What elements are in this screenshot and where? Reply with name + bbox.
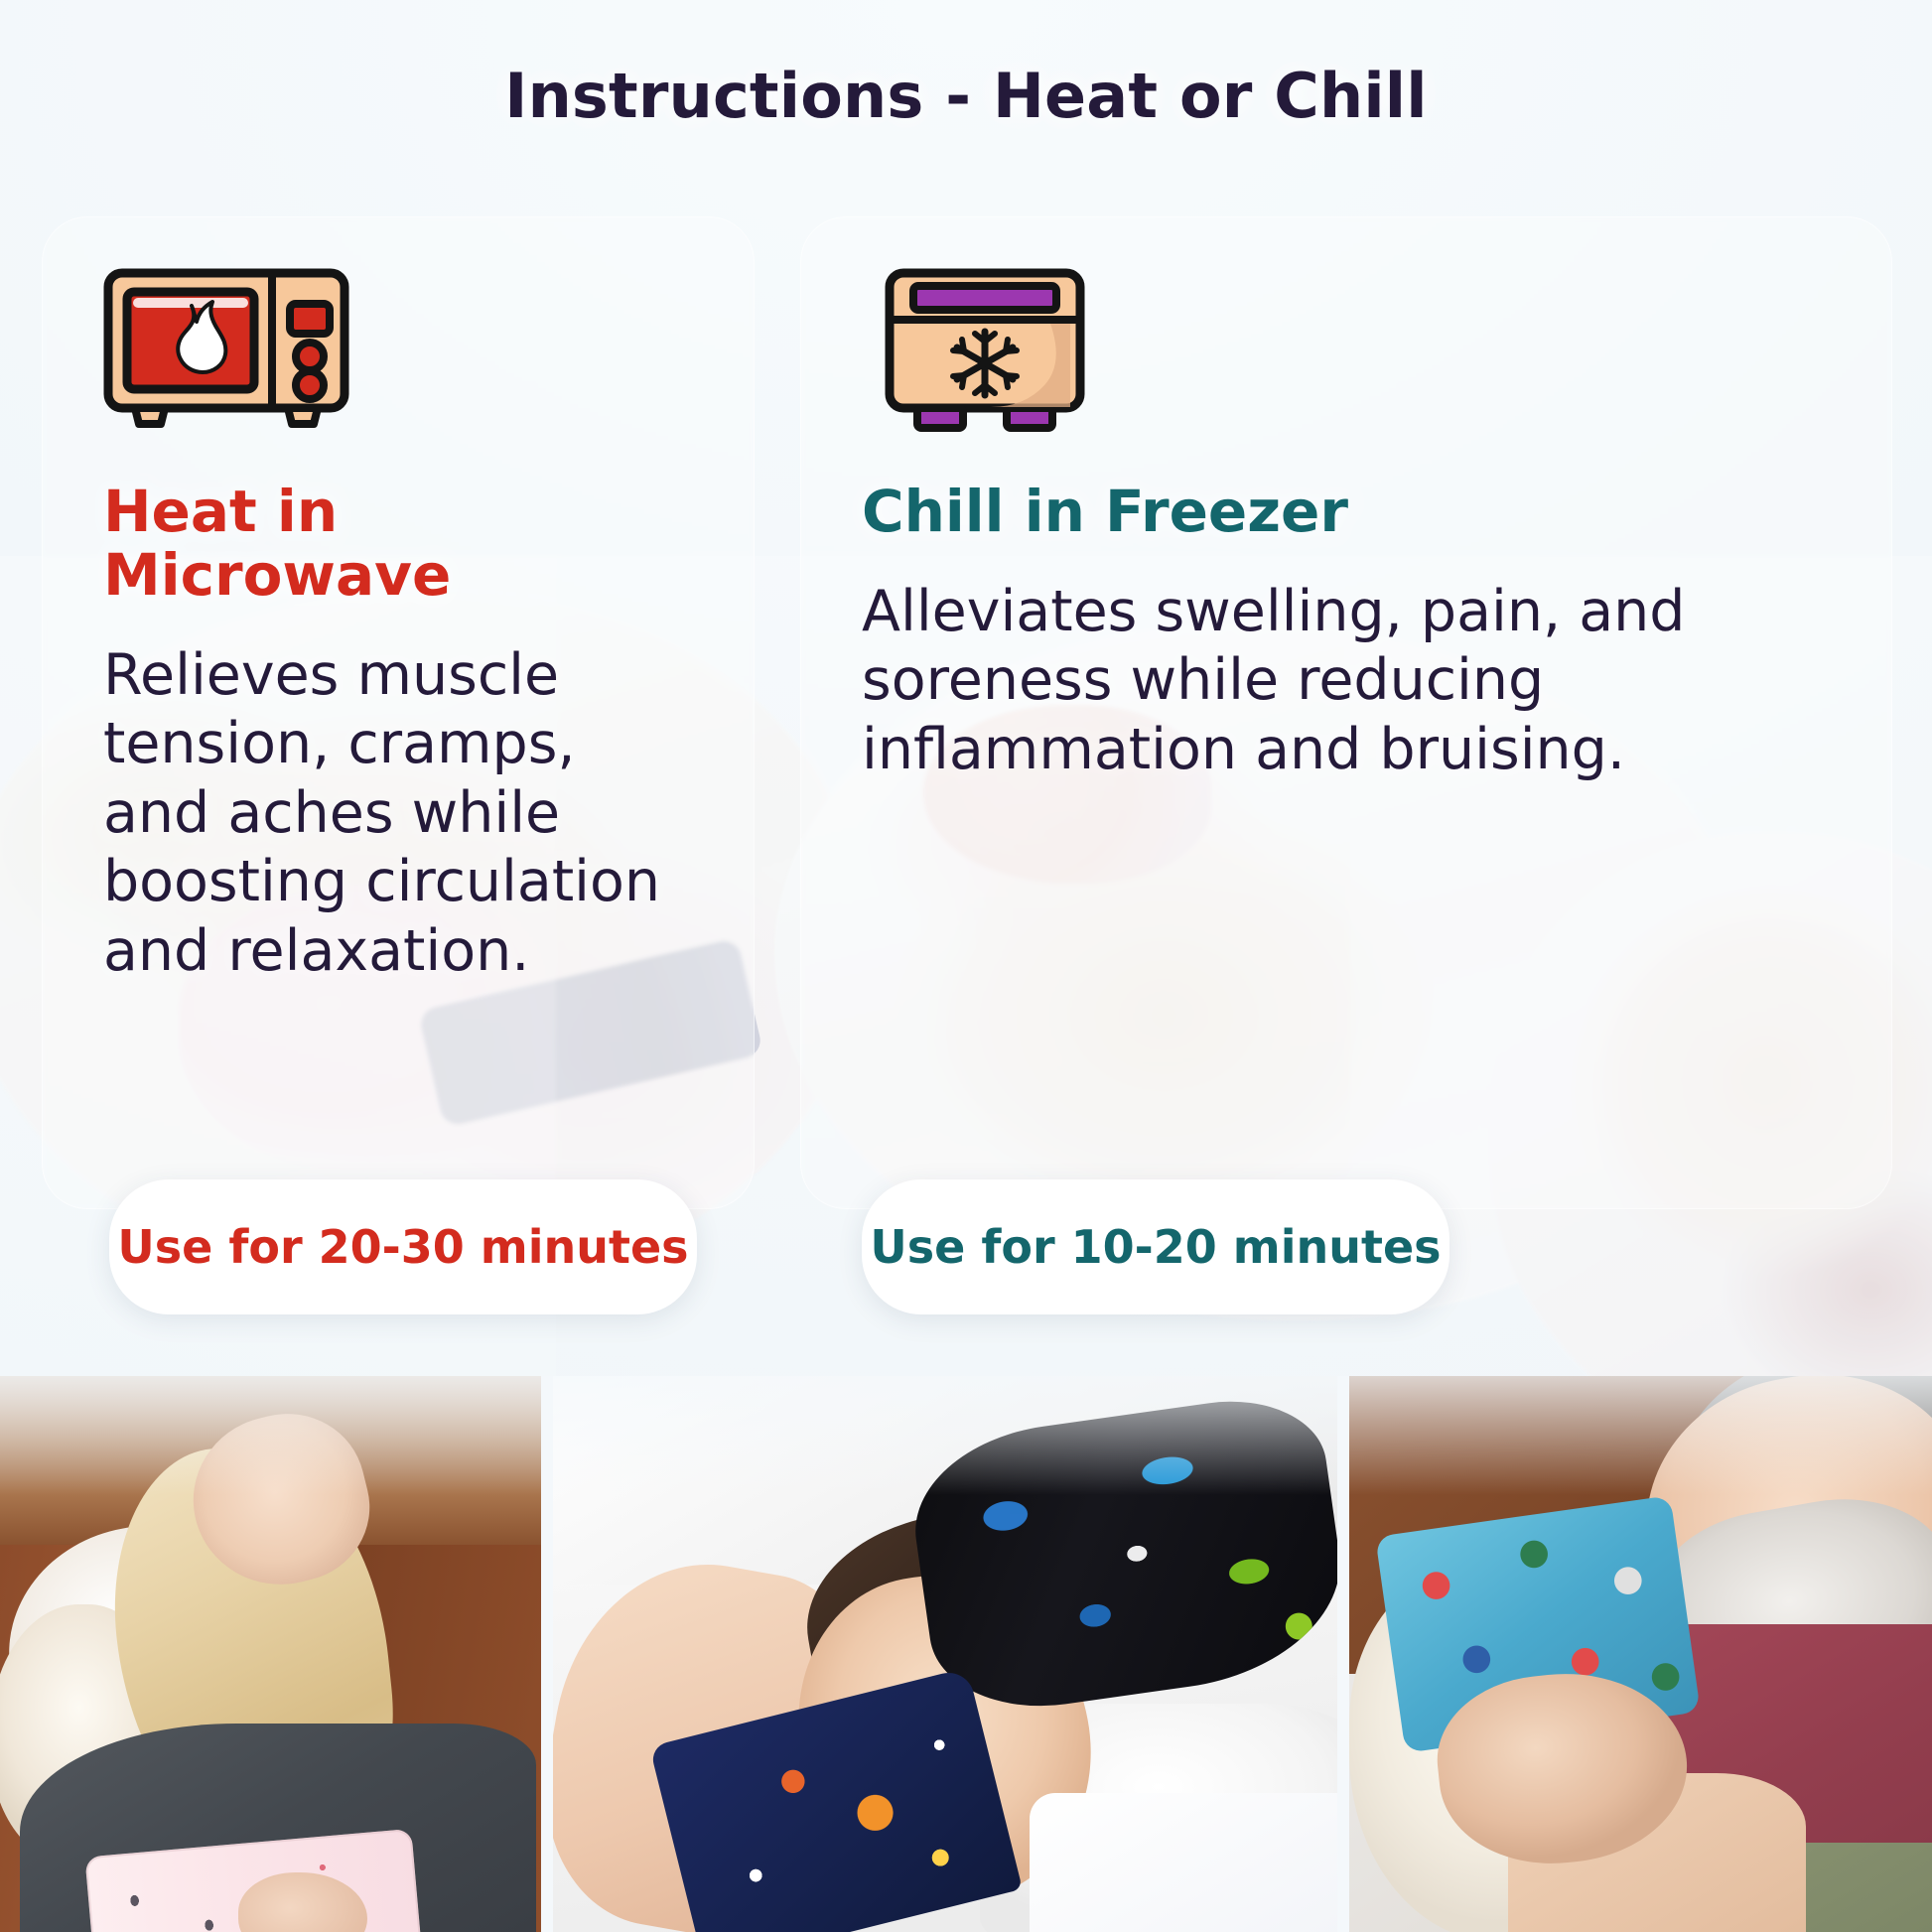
duration-badge-chill: Use for 10-20 minutes	[862, 1179, 1449, 1314]
card-body-heat: Relieves muscle tension, cramps, and ach…	[103, 641, 697, 987]
content-layer: Instructions - Heat or Chill	[0, 0, 1932, 1932]
card-body-chill: Alleviates swelling, pain, and soreness …	[862, 578, 1835, 785]
microwave-icon	[103, 268, 349, 439]
duration-badge-heat: Use for 20-30 minutes	[109, 1179, 697, 1314]
card-heading-heat: Heat in Microwave	[103, 481, 697, 608]
card-heading-chill: Chill in Freezer	[862, 481, 1835, 544]
freezer-icon	[862, 268, 1108, 439]
infographic-stage: Instructions - Heat or Chill	[0, 0, 1932, 1932]
page-title: Instructions - Heat or Chill	[0, 60, 1932, 132]
card-chill-in-freezer: Chill in Freezer Alleviates swelling, pa…	[800, 216, 1892, 1209]
card-heat-in-microwave: Heat in Microwave Relieves muscle tensio…	[42, 216, 755, 1209]
instruction-cards: Heat in Microwave Relieves muscle tensio…	[0, 216, 1932, 1209]
